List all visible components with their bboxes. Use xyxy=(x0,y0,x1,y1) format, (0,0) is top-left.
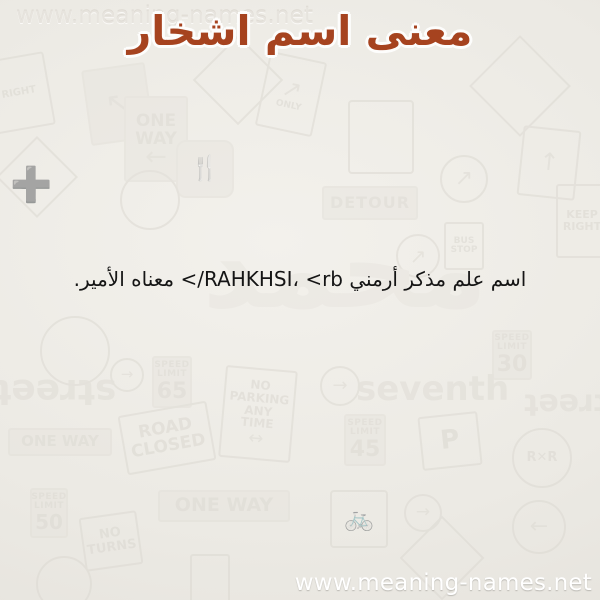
bus-stop-sign-icon: BUSSTOP xyxy=(444,222,484,270)
right-diagonal-arrow-sign-icon: ↗ xyxy=(440,155,488,203)
name-meaning-text: اسم علم مذكر أرمني RAHKHSI، <rb/> معناه … xyxy=(0,264,600,294)
detour-sign-icon: DETOUR xyxy=(322,186,418,220)
no-u-turn-square-sign-icon xyxy=(348,100,414,174)
speed-limit-65-sign-icon: SPEEDLIMIT 65 xyxy=(152,356,192,408)
one-way-sign-icon: ONE WAY ← xyxy=(124,96,188,182)
page-title: معنى اسم اشخار xyxy=(0,6,600,56)
keep-right-sign-icon: RIGHT xyxy=(0,51,56,135)
parking-sign-icon: P xyxy=(417,411,482,471)
speed-limit-30-sign-icon: SPEEDLIMIT 30 xyxy=(492,330,532,380)
no-entry-sign-icon xyxy=(40,316,110,386)
hospital-sign-icon xyxy=(0,136,78,218)
road-sign-background-pattern: RIGHT ↖ ONE WAY ← 🍴 ↗ ONLY ↗ ↑ ➕ xyxy=(0,0,600,600)
right-turn-only-sign-icon: ↗ ONLY xyxy=(255,51,328,137)
no-u-turn-sign-icon xyxy=(120,170,180,230)
street-word-right-icon: street xyxy=(524,388,600,420)
right-arrow-circle-2-icon: → xyxy=(320,366,360,406)
no-turns-sign-icon: NOTURNS xyxy=(79,510,144,572)
speed-limit-50-sign-icon: SPEEDLIMIT 50 xyxy=(30,488,68,538)
fork-arrow-sign-icon: ↑ xyxy=(517,125,582,201)
traffic-light-sign-icon xyxy=(190,554,230,600)
plus-symbol-icon: ➕ xyxy=(10,168,52,204)
no-parking-any-time-sign-icon: NOPARKINGANYTIME ↔ xyxy=(218,365,298,463)
street-word-left-icon: street xyxy=(0,372,116,410)
no-bicycles-sign-icon: 🚲 xyxy=(330,490,388,548)
road-closed-sign-icon: ROADCLOSED xyxy=(117,401,216,476)
left-curve-arrow-sign-icon: ← xyxy=(512,500,566,554)
stop-sign-ghost-icon xyxy=(36,556,92,600)
seventh-word-icon: seventh xyxy=(356,372,509,408)
speed-limit-45-sign-icon: SPEEDLIMIT 45 xyxy=(344,414,386,466)
image-canvas: RIGHT ↖ ONE WAY ← 🍴 ↗ ONLY ↗ ↑ ➕ xyxy=(0,0,600,600)
one-way-left-arrow-sign-icon: ONE WAY xyxy=(8,428,112,456)
rest-area-sign-icon: 🍴 xyxy=(176,140,234,198)
right-arrow-circle-3-icon: → xyxy=(404,494,442,532)
circle-arrow-small-icon: → xyxy=(110,358,144,392)
railroad-crossing-sign-icon: R✕R xyxy=(512,428,572,488)
watermark-bottom: www.meaning-names.net xyxy=(295,570,592,596)
one-way-right-arrow-sign-icon: ONE WAY xyxy=(158,490,290,522)
keep-right-text-sign-icon: KEEPRIGHT xyxy=(556,184,600,258)
left-turn-arrow-sign-icon: ↖ xyxy=(81,62,155,146)
